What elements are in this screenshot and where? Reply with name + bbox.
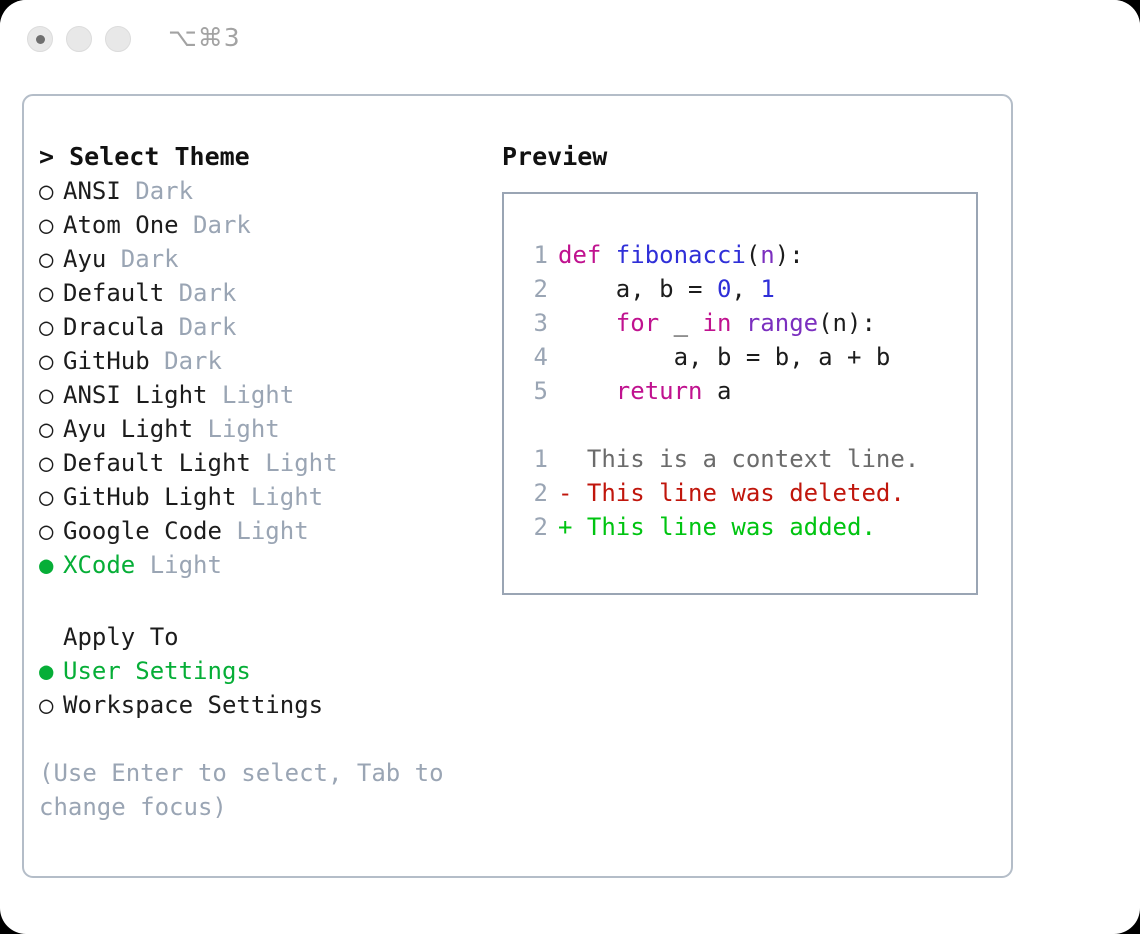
theme-kind-label: Light [251, 449, 338, 477]
radio-unselected-icon: ○ [39, 310, 63, 344]
preview-column: Preview 1def fibonacci(n):2 a, b = 0, 13… [502, 140, 992, 595]
theme-kind-label: Light [193, 415, 280, 443]
code-token-plain: (n): [818, 309, 876, 337]
code-token-plain: a, b = [558, 275, 717, 303]
radio-unselected-icon: ○ [39, 446, 63, 480]
code-line: 2 a, b = 0, 1 [522, 272, 976, 306]
code-line-number: 4 [522, 340, 548, 374]
preview-heading: Preview [502, 140, 992, 174]
radio-unselected-icon: ○ [39, 378, 63, 412]
theme-picker-column: > Select Theme ○ANSI Dark○Atom One Dark○… [39, 140, 479, 824]
apply-to-option-label: User Settings [63, 657, 251, 685]
theme-list-item[interactable]: ○ANSI Dark [39, 174, 479, 208]
code-line-number: 1 [522, 238, 548, 272]
main-panel: > Select Theme ○ANSI Dark○Atom One Dark○… [22, 94, 1013, 878]
diff-line-number: 2 [522, 476, 548, 510]
diff-text: This line was added. [572, 513, 875, 541]
code-line: 5 return a [522, 374, 976, 408]
diff-line: 1 This is a context line. [522, 442, 976, 476]
theme-list: ○ANSI Dark○Atom One Dark○Ayu Dark○Defaul… [39, 174, 479, 582]
theme-kind-label: Dark [106, 245, 178, 273]
code-line: 1def fibonacci(n): [522, 238, 976, 272]
theme-name-label: Dracula [63, 313, 164, 341]
diff-text: This line was deleted. [572, 479, 904, 507]
theme-name-label: Google Code [63, 517, 222, 545]
theme-list-item[interactable]: ○Dracula Dark [39, 310, 479, 344]
code-line-content: for _ in range(n): [548, 309, 876, 337]
traffic-light-minimize[interactable] [66, 26, 92, 52]
theme-name-label: Atom One [63, 211, 179, 239]
diff-line-number: 1 [522, 442, 548, 476]
radio-selected-icon: ● [39, 654, 63, 688]
theme-list-item[interactable]: ○ANSI Light Light [39, 378, 479, 412]
diff-sample: 1 This is a context line.2- This line wa… [522, 442, 976, 544]
diff-line-content: + This line was added. [548, 513, 876, 541]
diff-line-number: 2 [522, 510, 548, 544]
apply-to-option[interactable]: ●User Settings [39, 654, 479, 688]
app-window: ⌥⌘3 > Select Theme ○ANSI Dark○Atom One D… [0, 0, 1140, 934]
code-token-number: 1 [760, 275, 774, 303]
code-line: 3 for _ in range(n): [522, 306, 976, 340]
radio-unselected-icon: ○ [39, 480, 63, 514]
theme-name-label: Ayu Light [63, 415, 193, 443]
traffic-light-close[interactable] [27, 26, 53, 52]
theme-kind-label: Dark [179, 211, 251, 239]
theme-kind-label: Light [135, 551, 222, 579]
code-line-content: return a [548, 377, 731, 405]
theme-list-item[interactable]: ○GitHub Dark [39, 344, 479, 378]
theme-kind-label: Dark [121, 177, 193, 205]
record-dot-icon [36, 35, 45, 44]
code-line-content: a, b = 0, 1 [548, 275, 775, 303]
code-token-keyword: for [558, 309, 674, 337]
code-line-number: 5 [522, 374, 548, 408]
radio-unselected-icon: ○ [39, 412, 63, 446]
theme-kind-label: Dark [164, 313, 236, 341]
apply-to-heading: Apply To [39, 620, 479, 654]
radio-unselected-icon: ○ [39, 276, 63, 310]
theme-kind-label: Light [236, 483, 323, 511]
preview-box: 1def fibonacci(n):2 a, b = 0, 13 for _ i… [502, 192, 978, 595]
diff-line: 2- This line was deleted. [522, 476, 976, 510]
radio-unselected-icon: ○ [39, 514, 63, 548]
diff-line-content: This is a context line. [548, 445, 919, 473]
keyboard-shortcut-label: ⌥⌘3 [168, 23, 241, 52]
code-token-plain: ( [746, 241, 760, 269]
code-token-param: n [760, 241, 774, 269]
code-token-plain: _ [674, 309, 703, 337]
theme-name-label: Ayu [63, 245, 106, 273]
diff-sign: + [558, 513, 572, 541]
code-token-plain: a, b = b, a + b [558, 343, 890, 371]
diff-line-content: - This line was deleted. [548, 479, 905, 507]
theme-list-item[interactable]: ●XCode Light [39, 548, 479, 582]
theme-name-label: ANSI Light [63, 381, 208, 409]
theme-list-item[interactable]: ○Google Code Light [39, 514, 479, 548]
apply-to-options: ●User Settings○Workspace Settings [39, 654, 479, 722]
theme-list-item[interactable]: ○Default Dark [39, 276, 479, 310]
diff-sign: - [558, 479, 572, 507]
apply-to-option[interactable]: ○Workspace Settings [39, 688, 479, 722]
radio-unselected-icon: ○ [39, 344, 63, 378]
theme-list-item[interactable]: ○Ayu Dark [39, 242, 479, 276]
traffic-light-maximize[interactable] [105, 26, 131, 52]
theme-name-label: XCode [63, 551, 135, 579]
apply-to-section: Apply To ●User Settings○Workspace Settin… [39, 620, 479, 722]
radio-unselected-icon: ○ [39, 208, 63, 242]
diff-text: This is a context line. [572, 445, 919, 473]
code-token-number: 0 [717, 275, 731, 303]
traffic-light-group [27, 26, 131, 52]
theme-name-label: Default Light [63, 449, 251, 477]
code-line: 4 a, b = b, a + b [522, 340, 976, 374]
code-token-plain: ): [775, 241, 804, 269]
keyboard-hint-text: (Use Enter to select, Tab to change focu… [39, 756, 459, 824]
code-token-plain: , [731, 275, 760, 303]
theme-kind-label: Dark [164, 279, 236, 307]
theme-list-item[interactable]: ○GitHub Light Light [39, 480, 479, 514]
theme-kind-label: Dark [150, 347, 222, 375]
code-token-keyword: def [558, 241, 616, 269]
theme-list-item[interactable]: ○Default Light Light [39, 446, 479, 480]
diff-line: 2+ This line was added. [522, 510, 976, 544]
theme-kind-label: Light [208, 381, 295, 409]
code-line-content: def fibonacci(n): [548, 241, 804, 269]
code-token-keyword: return [558, 377, 717, 405]
theme-name-label: Default [63, 279, 164, 307]
theme-name-label: GitHub Light [63, 483, 236, 511]
code-line-content: a, b = b, a + b [548, 343, 890, 371]
theme-list-item[interactable]: ○Ayu Light Light [39, 412, 479, 446]
window-titlebar: ⌥⌘3 [0, 0, 1140, 78]
code-token-builtin: range [746, 309, 818, 337]
theme-list-item[interactable]: ○Atom One Dark [39, 208, 479, 242]
radio-selected-icon: ● [39, 548, 63, 582]
radio-unselected-icon: ○ [39, 688, 63, 722]
code-token-function: fibonacci [616, 241, 746, 269]
radio-unselected-icon: ○ [39, 174, 63, 208]
theme-name-label: ANSI [63, 177, 121, 205]
code-line-number: 2 [522, 272, 548, 306]
preview-spacer [522, 408, 976, 442]
select-theme-heading: > Select Theme [39, 140, 479, 174]
theme-kind-label: Light [222, 517, 309, 545]
diff-sign [558, 445, 572, 473]
code-sample: 1def fibonacci(n):2 a, b = 0, 13 for _ i… [522, 238, 976, 408]
apply-to-option-label: Workspace Settings [63, 691, 323, 719]
code-token-plain: a [717, 377, 731, 405]
code-token-keyword: in [703, 309, 746, 337]
theme-name-label: GitHub [63, 347, 150, 375]
code-line-number: 3 [522, 306, 548, 340]
radio-unselected-icon: ○ [39, 242, 63, 276]
